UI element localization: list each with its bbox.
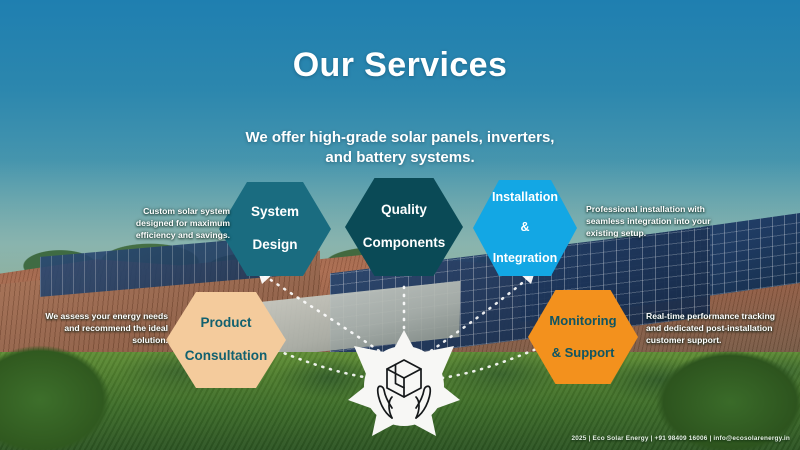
hexagon-label-line-2: Design bbox=[245, 237, 305, 253]
hexagon-label-line-1: Product bbox=[179, 315, 274, 331]
hexagon-label-line-2: & Support bbox=[543, 345, 622, 361]
callout-system-design: Custom solar system designed for maximum… bbox=[106, 205, 230, 242]
hexagon-label-line-3: Integration bbox=[486, 251, 564, 266]
bush-left bbox=[0, 330, 130, 450]
services-slide: Our Services We offer high-grade solar p… bbox=[0, 0, 800, 450]
footer-contact: 2025 | Eco Solar Energy | +91 98409 1600… bbox=[572, 435, 790, 442]
hexagon-label-line-1: Installation bbox=[486, 190, 564, 205]
hexagon-label-line-2: & bbox=[486, 220, 564, 235]
subtitle-line-1: We offer high-grade solar panels, invert… bbox=[0, 128, 800, 148]
center-hub bbox=[346, 330, 462, 442]
bush-right bbox=[650, 336, 800, 450]
page-subtitle: We offer high-grade solar panels, invert… bbox=[0, 128, 800, 169]
callout-monitoring-support: Real-time performance tracking and dedic… bbox=[646, 310, 792, 347]
hexagon-label-line-1: Quality bbox=[357, 202, 452, 218]
hexagon-label-line-2: Components bbox=[357, 235, 452, 251]
hexagon-label-line-1: Monitoring bbox=[543, 313, 622, 329]
subtitle-line-2: and battery systems. bbox=[0, 148, 800, 168]
hexagon-label-line-2: Consultation bbox=[179, 348, 274, 364]
page-title: Our Services bbox=[0, 46, 800, 85]
callout-product-consultation: We assess your energy needs and recommen… bbox=[32, 310, 168, 347]
hexagon-label-line-1: System bbox=[245, 204, 305, 220]
callout-installation: Professional installation with seamless … bbox=[586, 203, 716, 240]
